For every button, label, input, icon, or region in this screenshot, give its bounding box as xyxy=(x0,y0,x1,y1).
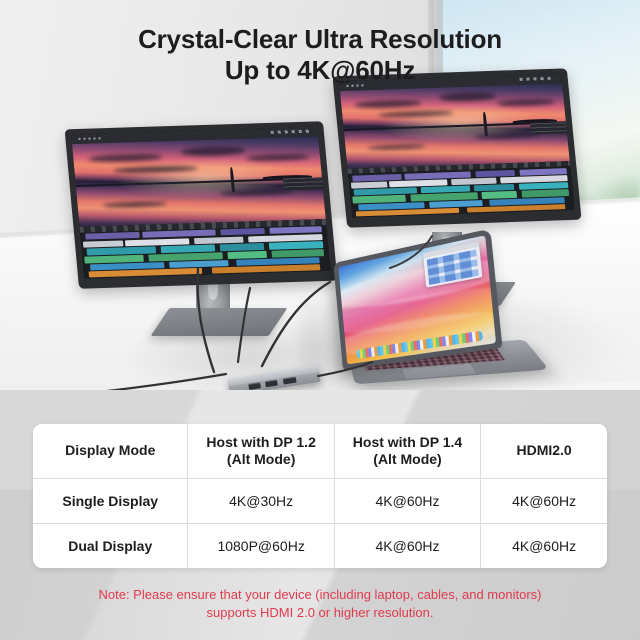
cell-single-dp12: 4K@30Hz xyxy=(188,479,334,524)
cable-right-monitor xyxy=(238,288,250,362)
cable-right-monitor-upper xyxy=(390,236,432,268)
table-header-row: Display Mode Host with DP 1.2 (Alt Mode)… xyxy=(33,424,607,479)
headline-line-2: Up to 4K@60Hz xyxy=(0,55,640,86)
table-header-cell-1: Host with DP 1.2 (Alt Mode) xyxy=(188,424,334,479)
cell-dual-hdmi: 4K@60Hz xyxy=(481,524,607,569)
headline-line-1: Crystal-Clear Ultra Resolution xyxy=(0,24,640,55)
table-row: Single Display 4K@30Hz 4K@60Hz 4K@60Hz xyxy=(33,479,607,524)
note-line-2: supports HDMI 2.0 or higher resolution. xyxy=(40,604,600,622)
table-row: Dual Display 1080P@60Hz 4K@60Hz 4K@60Hz xyxy=(33,524,607,569)
table-header-cell-0: Display Mode xyxy=(33,424,188,479)
header-main-2: Host with DP 1.4 xyxy=(353,434,462,450)
cell-dual-dp14: 4K@60Hz xyxy=(334,524,480,569)
display-mode-table: Display Mode Host with DP 1.2 (Alt Mode)… xyxy=(33,424,607,568)
cable-hub-to-laptop xyxy=(262,282,330,366)
spec-table-container: Display Mode Host with DP 1.2 (Alt Mode)… xyxy=(33,424,607,568)
header-sub-1: (Alt Mode) xyxy=(227,451,295,467)
note-line-1: Note: Please ensure that your device (in… xyxy=(40,586,600,604)
table-header-cell-3: HDMI2.0 xyxy=(481,424,607,479)
promo-image: Crystal-Clear Ultra Resolution Up to 4K@… xyxy=(0,0,640,640)
header-main-3: HDMI2.0 xyxy=(516,442,571,458)
table-header-cell-2: Host with DP 1.4 (Alt Mode) xyxy=(334,424,480,479)
row-label-dual-display: Dual Display xyxy=(33,524,188,569)
header-main-0: Display Mode xyxy=(65,442,155,458)
page-title: Crystal-Clear Ultra Resolution Up to 4K@… xyxy=(0,24,640,85)
table-body: Single Display 4K@30Hz 4K@60Hz 4K@60Hz D… xyxy=(33,479,607,569)
row-label-single-display: Single Display xyxy=(33,479,188,524)
table-header: Display Mode Host with DP 1.2 (Alt Mode)… xyxy=(33,424,607,479)
header-sub-2: (Alt Mode) xyxy=(373,451,441,467)
cable-hub-to-laptop-port xyxy=(318,362,372,376)
cell-dual-dp12: 1080P@60Hz xyxy=(188,524,334,569)
cable-left-monitor xyxy=(198,268,214,372)
cell-single-hdmi: 4K@60Hz xyxy=(481,479,607,524)
header-main-1: Host with DP 1.2 xyxy=(206,434,315,450)
compatibility-note: Note: Please ensure that your device (in… xyxy=(40,586,600,623)
cell-single-dp14: 4K@60Hz xyxy=(334,479,480,524)
